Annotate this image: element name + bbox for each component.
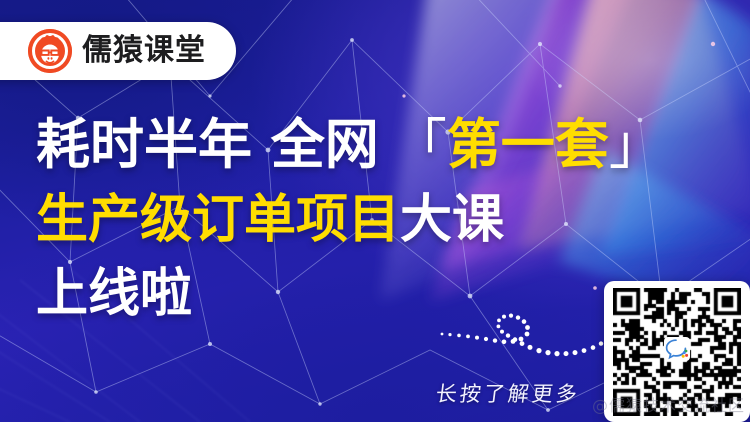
chat-bubble-icon — [664, 337, 690, 361]
poster-canvas: 儒猿课堂 耗时半年 全网「第一套」 生产级订单项目大课 上线啦 — [0, 0, 750, 422]
headline-bracket-open: 「 — [393, 113, 447, 176]
brand-badge: 儒猿课堂 — [0, 22, 236, 80]
qr-code[interactable] — [604, 281, 750, 422]
headline-bracket-close: 」 — [609, 113, 663, 176]
headline-block: 耗时半年 全网「第一套」 生产级订单项目大课 上线啦 — [36, 118, 663, 320]
monkey-face-icon — [28, 29, 72, 73]
headline-line1-emphasis: 第一套 — [447, 113, 609, 176]
headline-line3-plain: 上线啦 — [36, 264, 192, 324]
headline-line2-plain: 大课 — [400, 190, 504, 250]
cta-text: 长按了解更多 — [434, 378, 582, 408]
headline-line-1: 耗时半年 全网「第一套」 — [36, 118, 663, 172]
headline-line1-plain: 耗时半年 全网 — [36, 113, 379, 176]
headline-line2-emphasis: 生产级订单项目 — [36, 190, 400, 250]
brand-name: 儒猿课堂 — [82, 36, 206, 66]
headline-line-3: 上线啦 — [36, 268, 663, 320]
headline-line-2: 生产级订单项目大课 — [36, 194, 663, 246]
